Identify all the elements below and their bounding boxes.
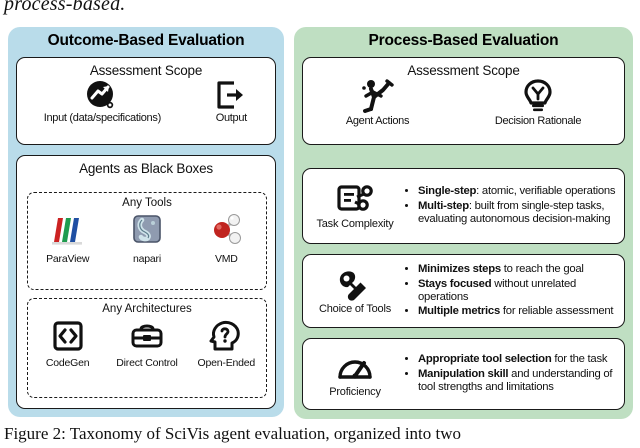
- task-list-node-icon: [335, 183, 375, 217]
- outcome-scope-items: Input (data/specifications) Output: [17, 79, 275, 124]
- person-kick-icon: [358, 78, 398, 114]
- wrench-icon: [335, 268, 375, 302]
- list-item: Manipulation skill and understanding of …: [418, 368, 618, 395]
- scope-item-decision-rationale-label: Decision Rationale: [495, 115, 581, 127]
- figure-canvas: process-based. Outcome-Based Evaluation …: [0, 0, 640, 448]
- toolbox-icon: [128, 318, 166, 354]
- bullet-rest: for reliable assessment: [500, 305, 613, 317]
- scope-item-input-label: Input (data/specifications): [44, 112, 161, 124]
- process-assessment-scope-card: Assessment Scope Agent Actions: [302, 57, 625, 145]
- scope-item-agent-actions-label: Agent Actions: [346, 115, 409, 127]
- bullet-bold: Multiple metrics: [418, 305, 500, 317]
- any-architectures-box: Any Architectures CodeGen: [27, 298, 267, 398]
- process-assessment-scope-title: Assessment Scope: [303, 58, 624, 78]
- proficiency-label: Proficiency: [329, 386, 381, 398]
- list-item: Single-step: atomic, verifiable operatio…: [418, 185, 618, 198]
- choice-of-tools-icon-cell: Choice of Tools: [309, 268, 401, 315]
- list-item: Appropriate tool selection for the task: [418, 353, 618, 366]
- agents-black-boxes-card: Agents as Black Boxes Any Tools ParaView: [16, 155, 276, 409]
- head-question-icon: [207, 318, 245, 354]
- tool-vmd: VMD: [187, 212, 266, 265]
- figure-caption: Figure 2: Taxonomy of SciVis agent evalu…: [4, 424, 638, 444]
- scope-item-agent-actions: Agent Actions: [346, 78, 409, 127]
- any-architectures-items: CodeGen Direct Control: [28, 318, 266, 369]
- architecture-codegen-label: CodeGen: [46, 357, 90, 369]
- choice-of-tools-row: Choice of Tools Minimizes steps to reach…: [303, 255, 624, 327]
- bullet-bold: Multi-step: [418, 200, 469, 212]
- code-brackets-icon: [49, 318, 87, 354]
- list-item: Multi-step: built from single-step tasks…: [418, 200, 618, 227]
- architecture-direct-control-label: Direct Control: [116, 357, 177, 369]
- list-item: Stays focused without unrelated operatio…: [418, 278, 618, 305]
- gauge-icon: [335, 351, 375, 385]
- choice-of-tools-card: Choice of Tools Minimizes steps to reach…: [302, 254, 625, 328]
- any-tools-box: Any Tools ParaView: [27, 192, 267, 290]
- tool-paraview-label: ParaView: [46, 253, 89, 265]
- choice-of-tools-bullets: Minimizes steps to reach the goal Stays …: [401, 262, 618, 320]
- proficiency-icon-cell: Proficiency: [309, 351, 401, 398]
- paraview-logo-icon: [48, 212, 88, 250]
- tool-napari: napari: [108, 212, 187, 265]
- scope-item-output-label: Output: [216, 112, 247, 124]
- agents-black-boxes-title: Agents as Black Boxes: [17, 156, 275, 176]
- scope-item-decision-rationale: Decision Rationale: [495, 78, 581, 127]
- architecture-open-ended-label: Open-Ended: [198, 357, 256, 369]
- task-complexity-bullets: Single-step: atomic, verifiable operatio…: [401, 184, 618, 227]
- architecture-direct-control: Direct Control: [108, 318, 187, 369]
- task-complexity-card: Task Complexity Single-step: atomic, ver…: [302, 168, 625, 244]
- proficiency-card: Proficiency Appropriate tool selection f…: [302, 338, 625, 410]
- scope-item-output: Output: [214, 79, 248, 124]
- bullet-bold: Minimizes steps: [418, 263, 501, 275]
- export-arrow-icon: [214, 79, 248, 111]
- napari-logo-icon: [127, 212, 167, 250]
- any-architectures-title: Any Architectures: [28, 299, 266, 315]
- task-complexity-icon-cell: Task Complexity: [309, 183, 401, 230]
- outcome-panel-title: Outcome-Based Evaluation: [8, 27, 284, 50]
- any-tools-items: ParaView napari: [28, 212, 266, 265]
- bullet-rest: to reach the goal: [501, 263, 584, 275]
- proficiency-row: Proficiency Appropriate tool selection f…: [303, 339, 624, 409]
- process-panel-title: Process-Based Evaluation: [294, 27, 633, 50]
- scope-item-input: Input (data/specifications): [44, 79, 161, 124]
- any-tools-title: Any Tools: [28, 193, 266, 209]
- list-item: Multiple metrics for reliable assessment: [418, 305, 618, 318]
- process-scope-items: Agent Actions Decision Rationale: [303, 78, 624, 127]
- bullet-rest: for the task: [551, 353, 607, 365]
- task-complexity-label: Task Complexity: [316, 218, 393, 230]
- bullet-bold: Single-step: [418, 185, 476, 197]
- chart-trend-circle-icon: [85, 79, 119, 111]
- proficiency-bullets: Appropriate tool selection for the task …: [401, 352, 618, 395]
- architecture-codegen: CodeGen: [28, 318, 107, 369]
- bullet-rest: : atomic, verifiable operations: [476, 185, 615, 197]
- tool-paraview: ParaView: [28, 212, 107, 265]
- preceding-paragraph-fragment: process-based.: [4, 0, 125, 16]
- task-complexity-row: Task Complexity Single-step: atomic, ver…: [303, 169, 624, 243]
- choice-of-tools-label: Choice of Tools: [319, 303, 391, 315]
- bullet-bold: Manipulation skill: [418, 368, 508, 380]
- bullet-bold: Appropriate tool selection: [418, 353, 551, 365]
- outcome-assessment-scope-card: Assessment Scope Input (data/specificati…: [16, 57, 276, 145]
- tool-vmd-label: VMD: [215, 253, 238, 265]
- lightbulb-icon: [520, 78, 556, 114]
- architecture-open-ended: Open-Ended: [187, 318, 266, 369]
- tool-napari-label: napari: [133, 253, 161, 265]
- list-item: Minimizes steps to reach the goal: [418, 263, 618, 276]
- vmd-molecule-icon: [206, 212, 246, 250]
- outcome-assessment-scope-title: Assessment Scope: [17, 58, 275, 78]
- bullet-bold: Stays focused: [418, 278, 491, 290]
